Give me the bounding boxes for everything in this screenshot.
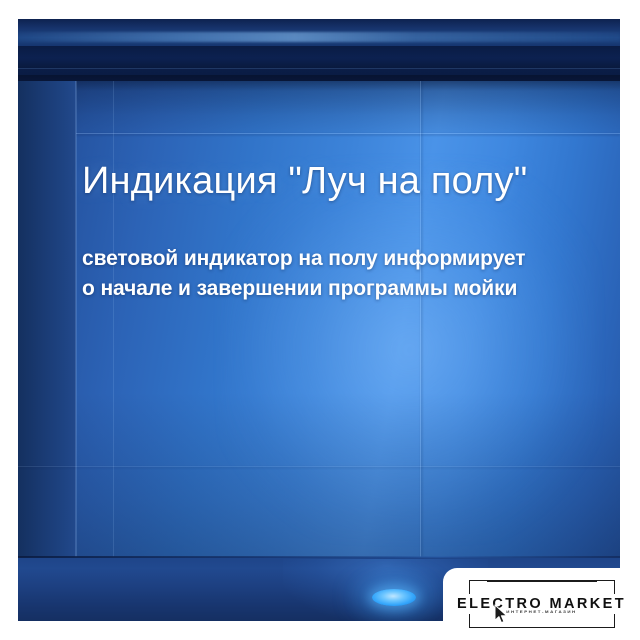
bracket-line-bottom xyxy=(487,627,597,629)
door-seam-horizontal-top xyxy=(18,133,620,134)
banner-headline: Индикация "Луч на полу" xyxy=(82,159,592,204)
bracket-corner-bottom-left-icon xyxy=(469,614,488,628)
countertop-edge xyxy=(18,19,620,81)
banner-canvas: Индикация "Луч на полу" световой индикат… xyxy=(0,0,640,640)
banner-subline-line-1: световой индикатор на полу информирует xyxy=(82,247,525,270)
door-left-stile-edge xyxy=(75,81,77,621)
logo-bracket-frame: ELECTRO MARKET ИНТЕРНЕТ-МАГАЗИН xyxy=(469,580,615,628)
brand-tagline: ИНТЕРНЕТ-МАГАЗИН xyxy=(469,609,615,613)
door-left-stile xyxy=(18,81,76,621)
door-top-panel xyxy=(18,81,620,133)
banner-subline: световой индикатор на полу информирует о… xyxy=(82,244,592,304)
bracket-corner-bottom-right-icon xyxy=(596,614,615,628)
product-photo: Индикация "Луч на полу" световой индикат… xyxy=(18,19,620,621)
bracket-corner-top-left-icon xyxy=(469,580,488,594)
floor-wall-junction xyxy=(18,556,620,558)
banner-subline-line-2: о начале и завершении программы мойки xyxy=(82,274,592,304)
beam-on-floor-indicator xyxy=(372,589,416,606)
door-seam-vertical xyxy=(420,81,421,557)
watermark-logo-card[interactable]: ELECTRO MARKET ИНТЕРНЕТ-МАГАЗИН xyxy=(443,568,640,640)
door-seam-horizontal-bottom xyxy=(18,466,620,467)
bracket-corner-top-right-icon xyxy=(596,580,615,594)
bracket-line-top xyxy=(487,580,597,582)
counter-lip xyxy=(18,46,620,68)
counter-highlight xyxy=(18,32,620,42)
banner-text-block: Индикация "Луч на полу" световой индикат… xyxy=(82,159,592,303)
